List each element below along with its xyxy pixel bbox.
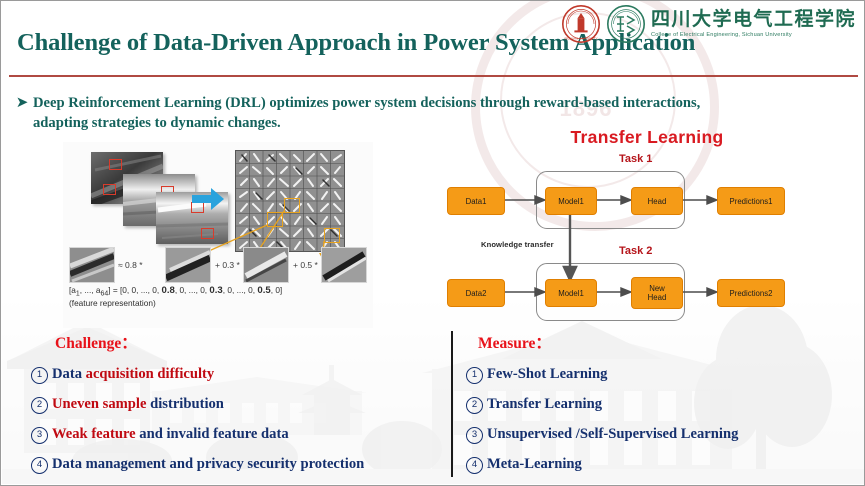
measure-number-1: 1 (466, 367, 483, 384)
challenge-item-1-part-b: acquisition difficulty (86, 366, 215, 382)
measure-number-2: 2 (466, 397, 483, 414)
node-new-head[interactable]: New Head (631, 277, 683, 309)
list-number-4: 4 (31, 457, 48, 474)
feature-tile-1 (165, 247, 211, 283)
bullet-line-1: Deep Reinforcement Learning (DRL) optimi… (33, 95, 700, 111)
challenge-item-4-part-a: Data management and privacy security pro… (52, 456, 364, 472)
list-number-1: 1 (31, 367, 48, 384)
challenge-item-3-part-b: and invalid feature data (139, 426, 288, 442)
node-predictions1[interactable]: Predictions1 (717, 187, 785, 215)
blue-right-arrow-icon (192, 188, 224, 210)
logo-text-english: College of Electrical Engineering, Sichu… (651, 32, 856, 38)
bullet-text: Deep Reinforcement Learning (DRL) optimi… (33, 93, 700, 133)
challenge-item-1-part-a: Data (52, 366, 86, 382)
gold-selection-box-3 (324, 228, 340, 243)
fv-tail: , 0] (271, 285, 283, 295)
new-head-line-2: Head (648, 293, 667, 302)
fv-value-2: 0.3 (209, 285, 222, 296)
fv-rest: ] = [0, 0, ..., 0, (108, 285, 161, 295)
fv-value-1: 0.8 (161, 285, 174, 296)
node-head[interactable]: Head (631, 187, 683, 215)
feature-tile-3 (321, 247, 367, 283)
arrow-bullet-icon: ➤ (11, 93, 33, 133)
title-underline-rule (9, 75, 858, 77)
feature-tile-2 (243, 247, 289, 283)
fv-sep2: , 0, ..., 0, (223, 285, 258, 295)
challenge-list: Challenge： 1Data acquisition difficulty … (31, 331, 446, 479)
equation-term-3: + 0.5 * (293, 260, 318, 270)
svg-text:SICHUAN UNIVERSITY: SICHUAN UNIVERSITY (564, 37, 597, 41)
challenge-heading: Challenge： (31, 331, 446, 353)
node-data2[interactable]: Data2 (447, 279, 505, 307)
fv-value-3: 0.5 (257, 285, 270, 296)
feature-vector-equation: [a1, ..., a64] = [0, 0, ..., 0, 0.8, 0, … (69, 285, 282, 298)
challenge-item-2-part-b: distribution (150, 396, 224, 412)
list-number-2: 2 (31, 397, 48, 414)
equation-term-1: ≈ 0.8 * (118, 260, 143, 270)
feature-representation-figure: ≈ 0.8 * + 0.3 * + 0.5 * [a1, ..., a64] =… (63, 142, 373, 328)
challenge-item-2-part-a: Uneven sample (52, 396, 150, 412)
measure-item-1: Few-Shot Learning (487, 366, 607, 382)
list-item: 1Data acquisition difficulty (31, 359, 446, 389)
list-item: 1Few-Shot Learning (466, 359, 861, 389)
feature-representation-caption: (feature representation) (69, 298, 156, 308)
red-selection-box-5 (201, 228, 214, 239)
measure-list: Measure： 1Few-Shot Learning 2Transfer Le… (466, 331, 861, 479)
column-divider (451, 331, 453, 477)
gold-selection-box-2 (267, 212, 283, 227)
red-selection-box-1 (109, 159, 122, 170)
node-model1-task2[interactable]: Model1 (545, 279, 597, 307)
fv-mid: , ..., a (80, 285, 101, 295)
bullet-paragraph: ➤ Deep Reinforcement Learning (DRL) opti… (11, 93, 851, 133)
measure-heading: Measure： (466, 331, 861, 353)
fv-sep1: , 0, ..., 0, (175, 285, 210, 295)
node-predictions2[interactable]: Predictions2 (717, 279, 785, 307)
list-item: 2Uneven sample distribution (31, 389, 446, 419)
measure-number-4: 4 (466, 457, 483, 474)
university-logo-group: SICHUAN UNIVERSITY 四川大学电气工程学院 College of… (561, 3, 856, 45)
node-data1[interactable]: Data1 (447, 187, 505, 215)
college-emblem-icon (606, 4, 646, 44)
fv-prefix: [a (69, 285, 76, 295)
list-number-3: 3 (31, 427, 48, 444)
new-head-line-1: New (649, 284, 665, 293)
list-item: 2Transfer Learning (466, 389, 861, 419)
challenge-item-3-part-a: Weak feature (52, 426, 139, 442)
gold-selection-box-1 (284, 198, 300, 213)
list-item: 4Data management and privacy security pr… (31, 449, 446, 479)
list-item: 3Unsupervised /Self-Supervised Learning (466, 419, 861, 449)
slide-canvas: 1896 (0, 0, 865, 486)
list-item: 3Weak feature and invalid feature data (31, 419, 446, 449)
measure-number-3: 3 (466, 427, 483, 444)
measure-item-3: Unsupervised /Self-Supervised Learning (487, 426, 738, 442)
red-selection-box-2 (103, 184, 116, 195)
sichuan-university-seal-icon: SICHUAN UNIVERSITY (561, 4, 601, 44)
node-model1-task1[interactable]: Model1 (545, 187, 597, 215)
logo-text-chinese: 四川大学电气工程学院 (651, 10, 856, 29)
measure-item-2: Transfer Learning (487, 396, 602, 412)
transfer-learning-figure: Transfer Learning Task 1 Task 2 Knowledg… (433, 127, 861, 325)
equation-term-2: + 0.3 * (215, 260, 240, 270)
measure-item-4: Meta-Learning (487, 456, 582, 472)
feature-tile-result (69, 247, 115, 283)
bullet-line-2: adapting strategies to dynamic changes. (33, 115, 281, 131)
list-item: 4Meta-Learning (466, 449, 861, 479)
